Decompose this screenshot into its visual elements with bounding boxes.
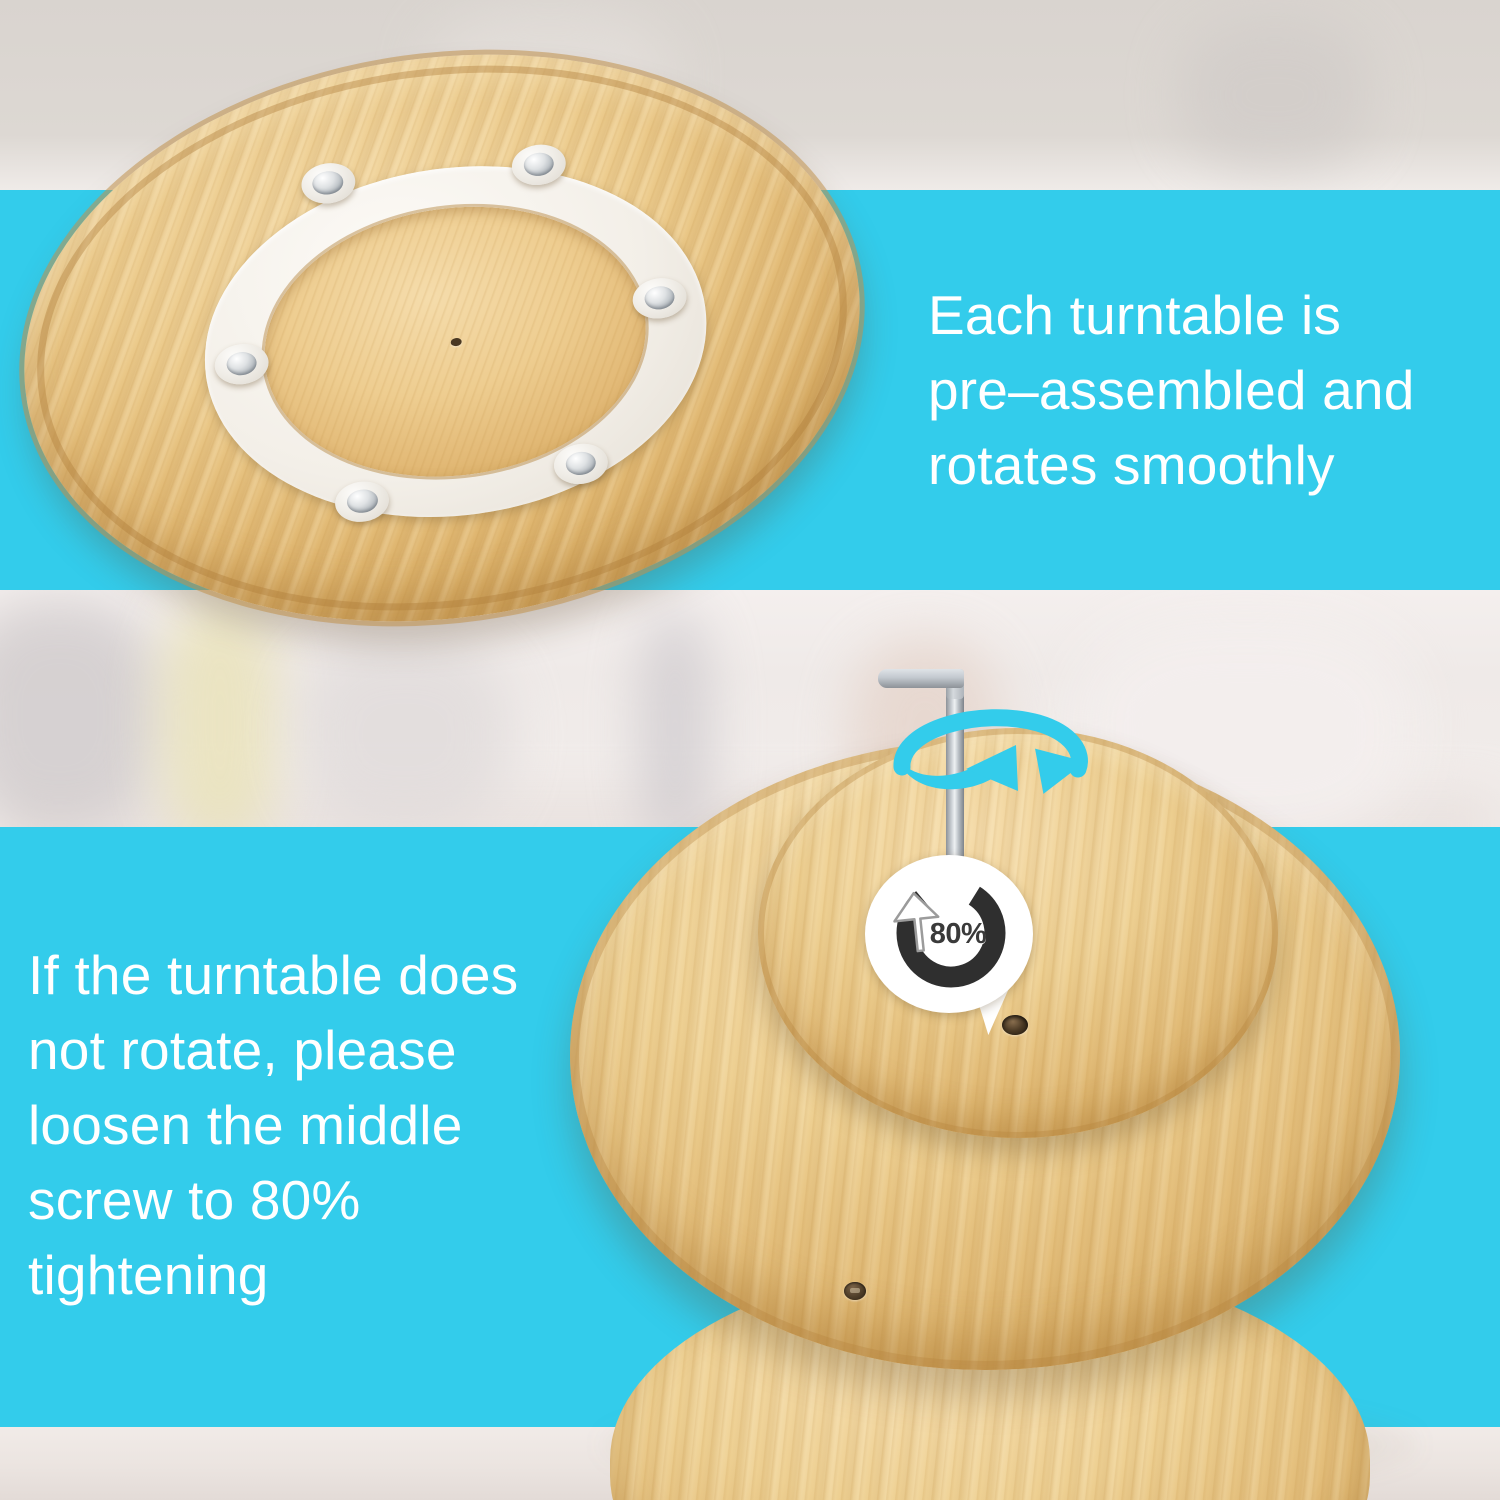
background-blur-shape	[1180, 20, 1370, 170]
product-infographic: 80% Each turntable is pre–assembled and …	[0, 0, 1500, 1500]
caption-text-bottom: If the turntable does not rotate, please…	[28, 938, 598, 1313]
turntable-assembly-photo: 80%	[540, 700, 1500, 1500]
background-blur-shape	[160, 598, 280, 848]
hex-key-arm	[878, 669, 964, 688]
background-blur-shape	[300, 640, 510, 830]
badge-percent-label: 80%	[865, 855, 1033, 1013]
tightening-badge: 80%	[865, 855, 1043, 1045]
center-pin-icon	[450, 337, 462, 346]
background-blur-shape	[0, 600, 160, 830]
screw-icon	[844, 1282, 866, 1300]
ball-bearing-icon	[212, 340, 271, 387]
caption-text-top: Each turntable is pre–assembled and rota…	[928, 278, 1488, 503]
rotation-arrow-icon	[888, 705, 1098, 825]
